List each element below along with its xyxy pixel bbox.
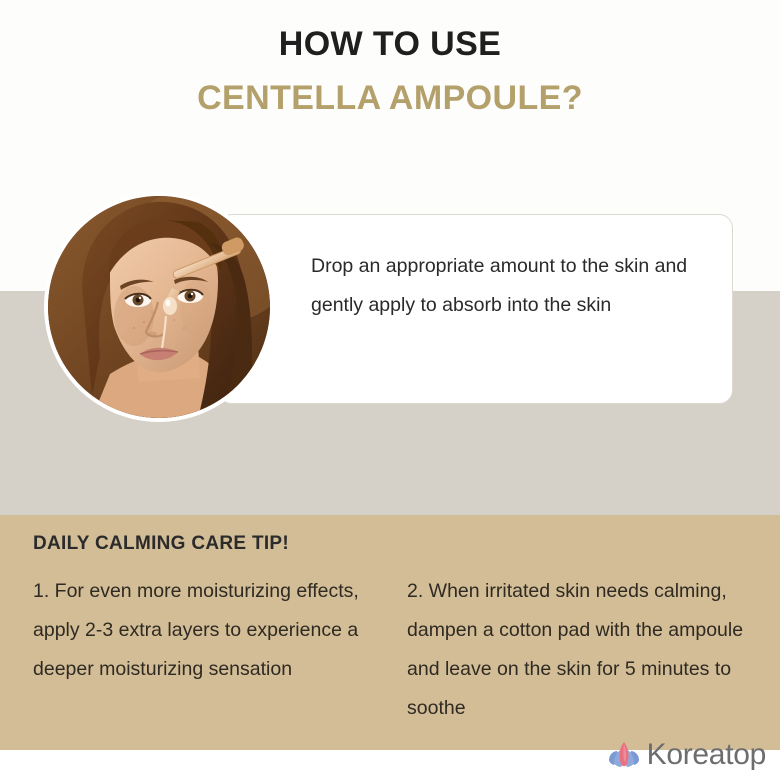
daily-tip-section: DAILY CALMING CARE TIP! 1. For even more… [0,533,780,743]
lotus-icon [607,740,641,770]
daily-tip-item-1: 1. For even more moisturizing effects, a… [33,572,383,728]
instruction-card: Drop an appropriate amount to the skin a… [218,214,733,404]
model-photo-illustration [48,196,270,418]
daily-tip-columns: 1. For even more moisturizing effects, a… [0,572,780,728]
page-title-line-2: CENTELLA AMPOULE? [0,76,780,120]
infographic-page: HOW TO USE CENTELLA AMPOULE? Drop an app… [0,0,780,780]
instruction-card-text: Drop an appropriate amount to the skin a… [311,247,711,325]
daily-tip-heading: DAILY CALMING CARE TIP! [33,533,289,555]
daily-tip-item-2: 2. When irritated skin needs calming, da… [407,572,752,728]
brand-name: Koreatop [647,738,766,772]
page-title-line-1: HOW TO USE [0,22,780,66]
brand-logo: Koreatop [607,738,766,772]
model-photo-circle [48,196,270,418]
page-header: HOW TO USE CENTELLA AMPOULE? [0,22,780,120]
